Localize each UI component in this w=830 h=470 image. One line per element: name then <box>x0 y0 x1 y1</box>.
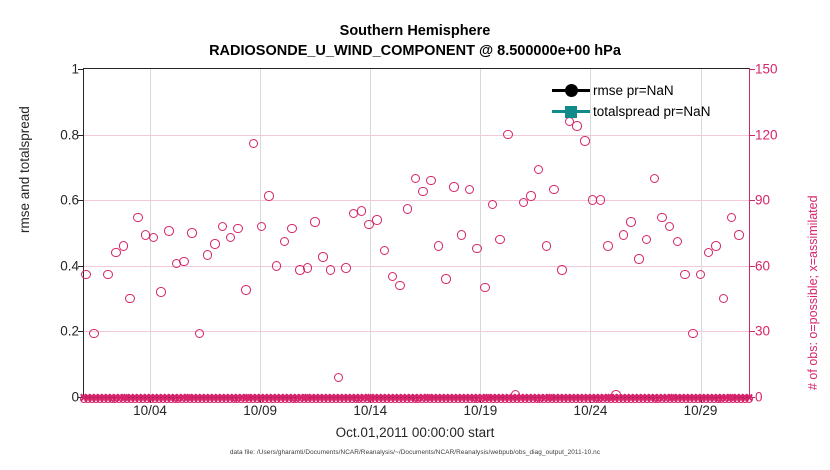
obs-possible-marker <box>218 222 228 232</box>
x-axis-tick-label: 10/24 <box>574 403 608 418</box>
obs-possible-marker <box>210 239 220 249</box>
obs-possible-marker <box>195 329 205 339</box>
y-axis-left-tick-label: 0.4 <box>60 258 79 273</box>
obs-possible-marker <box>149 233 159 243</box>
gridline-horizontal <box>84 331 749 332</box>
y-axis-left-title: rmse and totalspread <box>17 106 32 233</box>
obs-possible-marker <box>403 204 413 214</box>
obs-possible-marker <box>81 270 91 280</box>
obs-possible-marker <box>495 235 505 245</box>
obs-possible-marker <box>696 270 706 280</box>
gridline-vertical <box>260 69 261 397</box>
legend-marker-totalspread <box>552 105 590 119</box>
obs-possible-marker <box>411 174 421 184</box>
obs-possible-marker <box>380 246 390 256</box>
legend-label-rmse: rmse pr=NaN <box>593 83 674 98</box>
obs-possible-marker <box>580 136 590 146</box>
obs-possible-marker <box>626 217 636 227</box>
obs-possible-marker <box>203 250 213 260</box>
obs-possible-marker <box>226 233 236 243</box>
obs-possible-marker <box>549 185 559 195</box>
x-axis-tick-label: 10/29 <box>684 403 718 418</box>
obs-possible-marker <box>488 200 498 210</box>
y-axis-right-tick-label: 150 <box>755 62 778 77</box>
gridline-horizontal <box>84 200 749 201</box>
obs-possible-marker <box>164 226 174 236</box>
x-axis-tick-label: 10/19 <box>463 403 497 418</box>
obs-possible-marker <box>534 165 544 175</box>
legend-item-totalspread: totalspread pr=NaN <box>552 101 710 122</box>
obs-possible-marker <box>526 191 536 201</box>
x-axis-tick-label: 10/04 <box>133 403 167 418</box>
chart-title-line1: Southern Hemisphere <box>0 22 830 42</box>
obs-possible-marker <box>688 329 698 339</box>
obs-possible-marker <box>103 270 113 280</box>
legend-label-totalspread: totalspread pr=NaN <box>593 104 710 119</box>
obs-possible-marker <box>434 241 444 251</box>
obs-possible-marker <box>280 237 290 247</box>
y-axis-right-tick-label: 90 <box>755 193 770 208</box>
obs-possible-marker <box>372 215 382 225</box>
legend: rmse pr=NaN totalspread pr=NaN <box>548 78 714 125</box>
obs-possible-marker <box>542 241 552 251</box>
obs-possible-marker <box>465 185 475 195</box>
y-axis-left-tick-label: 0.2 <box>60 324 79 339</box>
obs-possible-marker <box>179 257 189 267</box>
obs-possible-marker <box>264 191 274 201</box>
y-axis-right-tick-label: 0 <box>755 390 763 405</box>
x-axis-tick-label: 10/09 <box>243 403 277 418</box>
obs-possible-marker <box>657 213 667 223</box>
obs-possible-marker <box>503 130 513 140</box>
obs-possible-marker <box>727 213 737 223</box>
y-axis-left-tick-label: 0.8 <box>60 127 79 142</box>
obs-possible-marker <box>334 373 344 383</box>
obs-possible-marker <box>680 270 690 280</box>
legend-item-rmse: rmse pr=NaN <box>552 80 710 101</box>
obs-possible-marker <box>357 206 367 216</box>
chart-title-line2: RADIOSONDE_U_WIND_COMPONENT @ 8.500000e+… <box>0 42 830 62</box>
obs-possible-marker <box>673 237 683 247</box>
x-axis-tick-label: 10/14 <box>353 403 387 418</box>
obs-possible-marker <box>603 241 613 251</box>
y-axis-right-title: # of obs: o=possible; x=assimilated <box>806 195 820 390</box>
obs-possible-marker <box>634 254 644 264</box>
obs-possible-marker <box>156 287 166 297</box>
y-axis-right-tick-label: 60 <box>755 258 770 273</box>
gridline-horizontal <box>84 135 749 136</box>
obs-possible-marker <box>241 285 251 295</box>
obs-possible-marker <box>619 230 629 240</box>
obs-possible-marker <box>418 187 428 197</box>
obs-possible-marker <box>303 263 313 273</box>
obs-possible-marker <box>318 252 328 262</box>
data-file-note: data file: /Users/gharamti/Documents/NCA… <box>0 449 830 456</box>
figure-canvas: Southern Hemisphere RADIOSONDE_U_WIND_CO… <box>0 0 830 470</box>
obs-possible-marker <box>341 263 351 273</box>
obs-possible-marker <box>642 235 652 245</box>
obs-possible-marker <box>449 182 459 192</box>
obs-possible-marker <box>441 274 451 284</box>
legend-marker-rmse <box>552 84 590 98</box>
y-axis-left-tick-label: 0.6 <box>60 193 79 208</box>
obs-possible-marker <box>249 139 259 149</box>
x-axis-title: Oct.01,2011 00:00:00 start <box>0 425 830 440</box>
obs-possible-marker <box>472 244 482 254</box>
gridline-vertical <box>370 69 371 397</box>
obs-possible-marker <box>89 329 99 339</box>
obs-possible-marker <box>187 228 197 238</box>
obs-possible-marker <box>233 224 243 234</box>
obs-possible-marker <box>388 272 398 282</box>
y-axis-right-tick-label: 120 <box>755 127 778 142</box>
obs-possible-marker <box>719 294 729 304</box>
obs-possible-marker <box>557 265 567 275</box>
obs-possible-marker <box>650 174 660 184</box>
obs-possible-marker <box>287 224 297 234</box>
obs-possible-marker <box>711 241 721 251</box>
obs-possible-marker <box>326 265 336 275</box>
obs-possible-marker <box>272 261 282 271</box>
obs-possible-marker <box>457 230 467 240</box>
gridline-vertical <box>480 69 481 397</box>
obs-possible-marker <box>395 281 405 291</box>
obs-possible-marker <box>734 230 744 240</box>
y-axis-right-tick-label: 30 <box>755 324 770 339</box>
obs-possible-marker <box>596 195 606 205</box>
y-axis-left-tick-label: 0 <box>71 390 79 405</box>
obs-possible-marker <box>133 213 143 223</box>
obs-possible-marker <box>125 294 135 304</box>
obs-possible-marker <box>480 283 490 293</box>
y-axis-left-tick-label: 1 <box>71 62 79 77</box>
obs-possible-marker <box>426 176 436 186</box>
obs-zero-marker <box>745 395 753 403</box>
obs-possible-marker <box>665 222 675 232</box>
obs-possible-marker <box>257 222 267 232</box>
chart-title: Southern Hemisphere RADIOSONDE_U_WIND_CO… <box>0 22 830 61</box>
obs-possible-marker <box>119 241 129 251</box>
obs-possible-marker <box>310 217 320 227</box>
